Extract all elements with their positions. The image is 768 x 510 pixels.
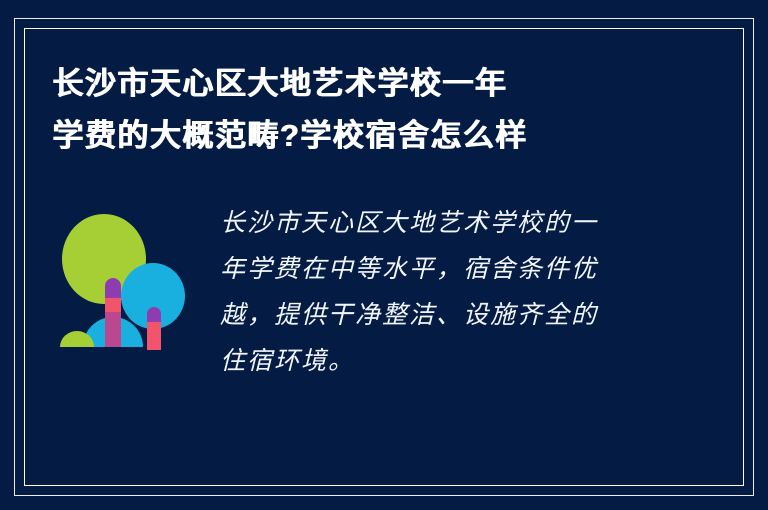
big-tree-trunk-overlap	[105, 312, 121, 347]
small-tree-trunk-lower	[147, 322, 161, 350]
title-line-1: 长沙市天心区大地艺术学校一年	[52, 58, 732, 110]
body-text-block: 长沙市天心区大地艺术学校的一 年学费在中等水平，宿舍条件优 越，提供干净整洁、设…	[202, 200, 708, 384]
two-trees-illustration	[52, 200, 202, 362]
body-line-3: 越，提供干净整洁、设施齐全的	[220, 292, 708, 338]
page-title: 长沙市天心区大地艺术学校一年 学费的大概范畴?学校宿舍怎么样	[52, 58, 732, 162]
body-line-4: 住宿环境。	[220, 338, 708, 384]
body-line-1: 长沙市天心区大地艺术学校的一	[220, 200, 708, 246]
content-area: 长沙市天心区大地艺术学校的一 年学费在中等水平，宿舍条件优 越，提供干净整洁、设…	[52, 200, 708, 384]
title-line-2: 学费的大概范畴?学校宿舍怎么样	[52, 110, 732, 162]
body-line-2: 年学费在中等水平，宿舍条件优	[220, 246, 708, 292]
poster-canvas: 长沙市天心区大地艺术学校一年 学费的大概范畴?学校宿舍怎么样	[0, 0, 768, 510]
